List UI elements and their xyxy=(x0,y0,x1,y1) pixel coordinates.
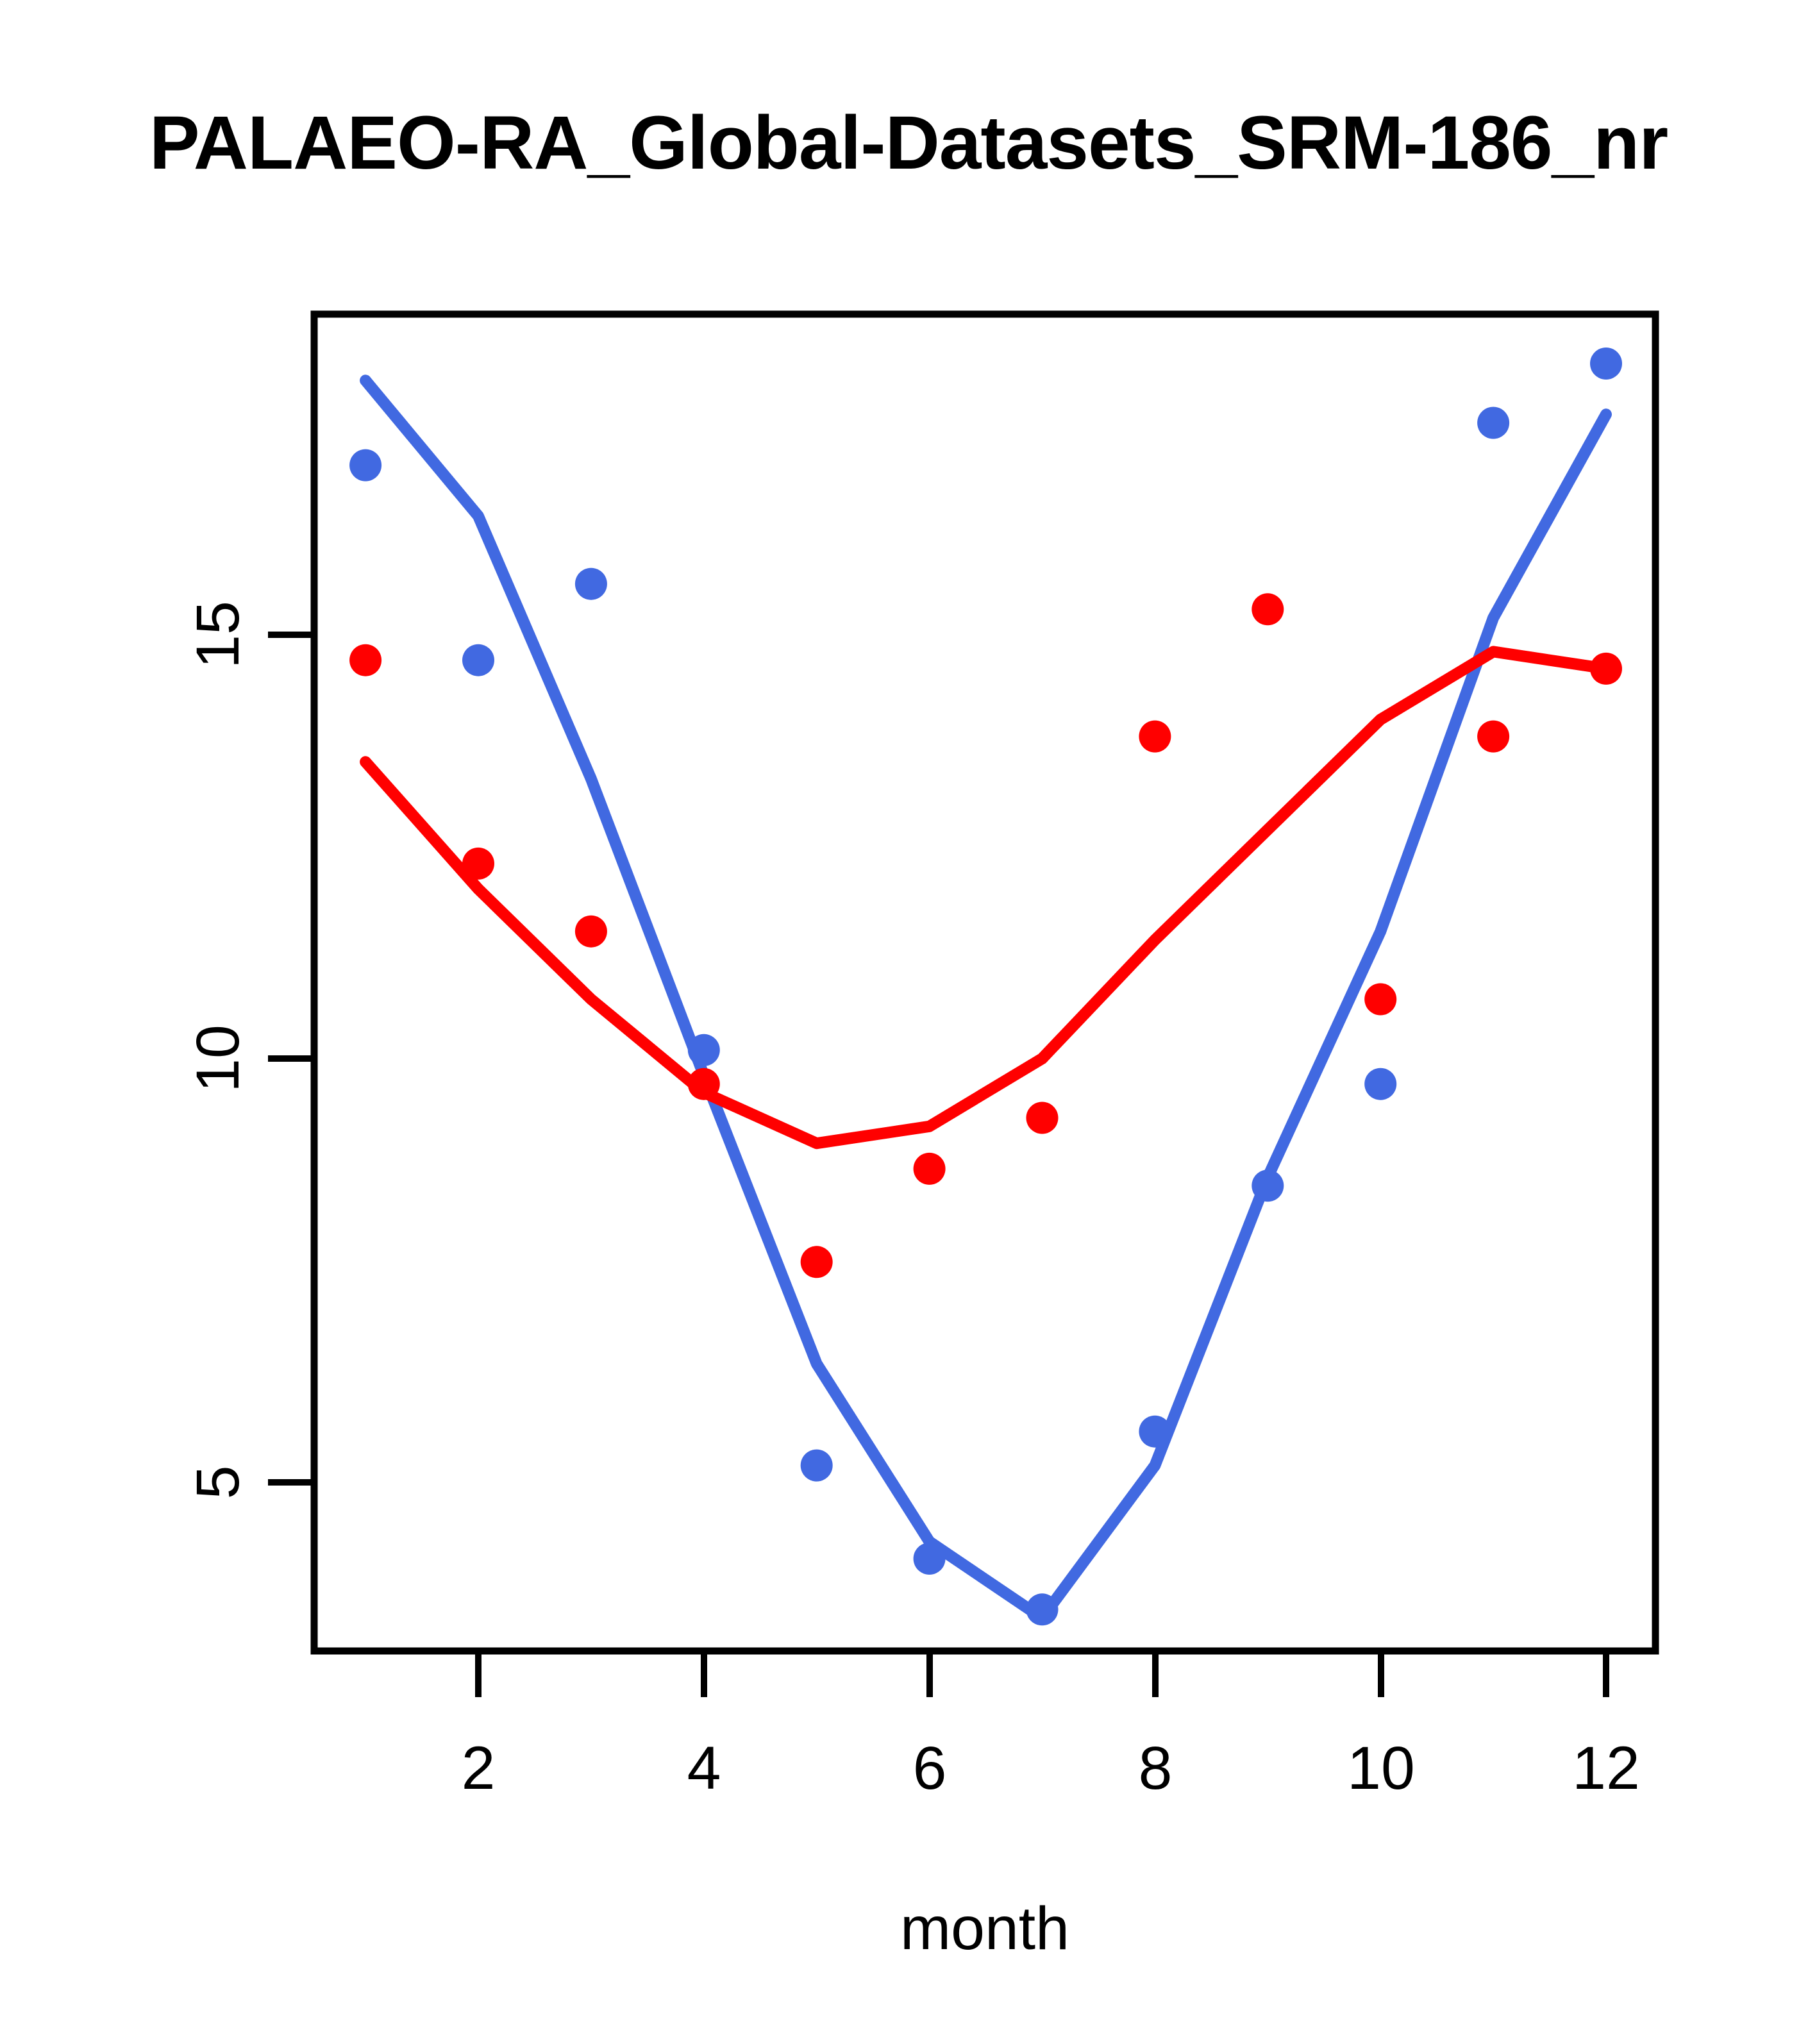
data-point xyxy=(349,449,381,482)
data-point xyxy=(801,1450,833,1482)
data-point xyxy=(801,1246,833,1278)
data-point xyxy=(1590,348,1622,380)
data-point xyxy=(1477,721,1509,753)
scatter-line-chart: 15 10 5 2 4 6 8 10 12 month xyxy=(0,0,1817,2044)
y-tick-label-5: 5 xyxy=(184,1466,252,1500)
y-tick-label-15: 15 xyxy=(184,601,252,669)
x-axis-label: month xyxy=(900,1895,1069,1963)
data-point xyxy=(1364,984,1396,1016)
data-point xyxy=(1026,1102,1059,1134)
data-point xyxy=(462,848,494,880)
x-tick-label-10: 10 xyxy=(1347,1734,1415,1802)
data-point xyxy=(688,1068,720,1100)
data-point xyxy=(575,916,607,948)
data-point xyxy=(349,644,381,676)
y-axis-ticks xyxy=(268,635,314,1482)
data-point xyxy=(1026,1593,1059,1625)
chart-page: PALAEO-RA_Global-Datasets_SRM-186_nr 15 … xyxy=(0,0,1817,2044)
data-point xyxy=(1139,1416,1171,1448)
x-tick-label-12: 12 xyxy=(1572,1734,1640,1802)
series-line-blue-line xyxy=(365,380,1606,1618)
data-point xyxy=(1139,721,1171,753)
data-point xyxy=(914,1543,946,1575)
series-line-red-line xyxy=(365,651,1606,1143)
x-tick-label-2: 2 xyxy=(462,1734,496,1802)
data-point xyxy=(462,644,494,676)
data-point xyxy=(914,1153,946,1185)
data-point xyxy=(1364,1068,1396,1100)
series-points-blue-points xyxy=(349,348,1622,1625)
y-tick-label-10: 10 xyxy=(184,1025,252,1093)
y-axis-tick-labels: 15 10 5 xyxy=(184,601,252,1499)
data-point xyxy=(1477,407,1509,439)
x-axis-ticks xyxy=(478,1651,1606,1697)
data-point xyxy=(1590,653,1622,685)
data-point xyxy=(688,1034,720,1066)
data-point xyxy=(1252,1169,1284,1202)
data-series-layer xyxy=(349,348,1622,1625)
data-point xyxy=(575,568,607,600)
x-tick-label-4: 4 xyxy=(687,1734,721,1802)
plot-frame xyxy=(314,314,1655,1651)
series-points-red-points xyxy=(349,593,1622,1278)
x-tick-label-8: 8 xyxy=(1139,1734,1173,1802)
x-tick-label-6: 6 xyxy=(913,1734,947,1802)
data-point xyxy=(1252,593,1284,625)
x-axis-tick-labels: 2 4 6 8 10 12 xyxy=(462,1734,1640,1802)
